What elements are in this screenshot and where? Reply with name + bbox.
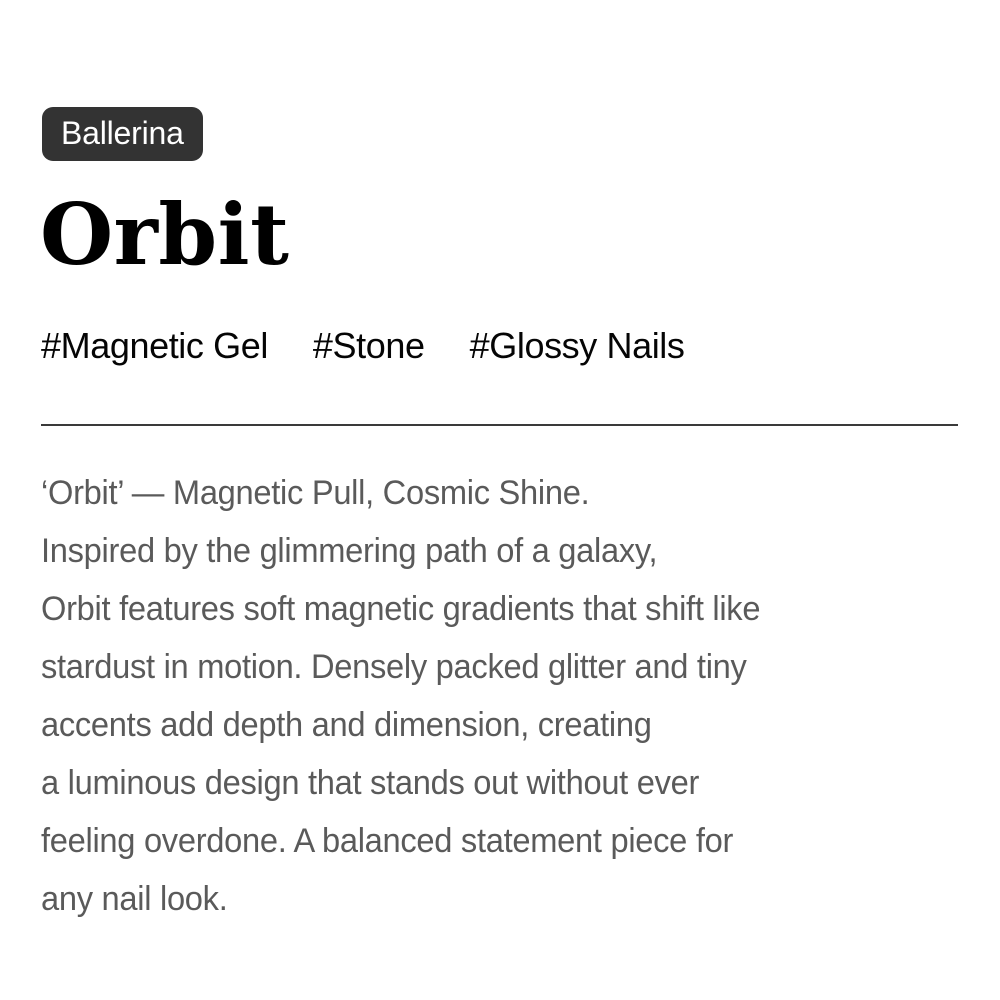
page-title: Orbit — [40, 193, 289, 277]
hashtag-list: #Magnetic Gel #Stone #Glossy Nails — [41, 328, 685, 364]
product-description: ‘Orbit’ — Magnetic Pull, Cosmic Shine. I… — [41, 464, 961, 928]
description-line: feeling overdone. A balanced statement p… — [41, 812, 924, 870]
category-badge-row: Ballerina — [42, 107, 203, 161]
description-line: any nail look. — [41, 870, 924, 928]
description-line: stardust in motion. Densely packed glitt… — [41, 638, 924, 696]
status-badge: Ballerina — [42, 107, 203, 161]
description-line: a luminous design that stands out withou… — [41, 754, 924, 812]
product-detail-page: Ballerina Orbit #Magnetic Gel #Stone #Gl… — [0, 0, 1000, 1000]
hashtag-item[interactable]: #Magnetic Gel — [41, 328, 268, 364]
section-divider — [41, 424, 958, 426]
description-line: ‘Orbit’ — Magnetic Pull, Cosmic Shine. — [41, 464, 924, 522]
description-line: Inspired by the glimmering path of a gal… — [41, 522, 924, 580]
hashtag-item[interactable]: #Glossy Nails — [470, 328, 685, 364]
description-line: accents add depth and dimension, creatin… — [41, 696, 924, 754]
hashtag-item[interactable]: #Stone — [313, 328, 425, 364]
description-line: Orbit features soft magnetic gradients t… — [41, 580, 924, 638]
